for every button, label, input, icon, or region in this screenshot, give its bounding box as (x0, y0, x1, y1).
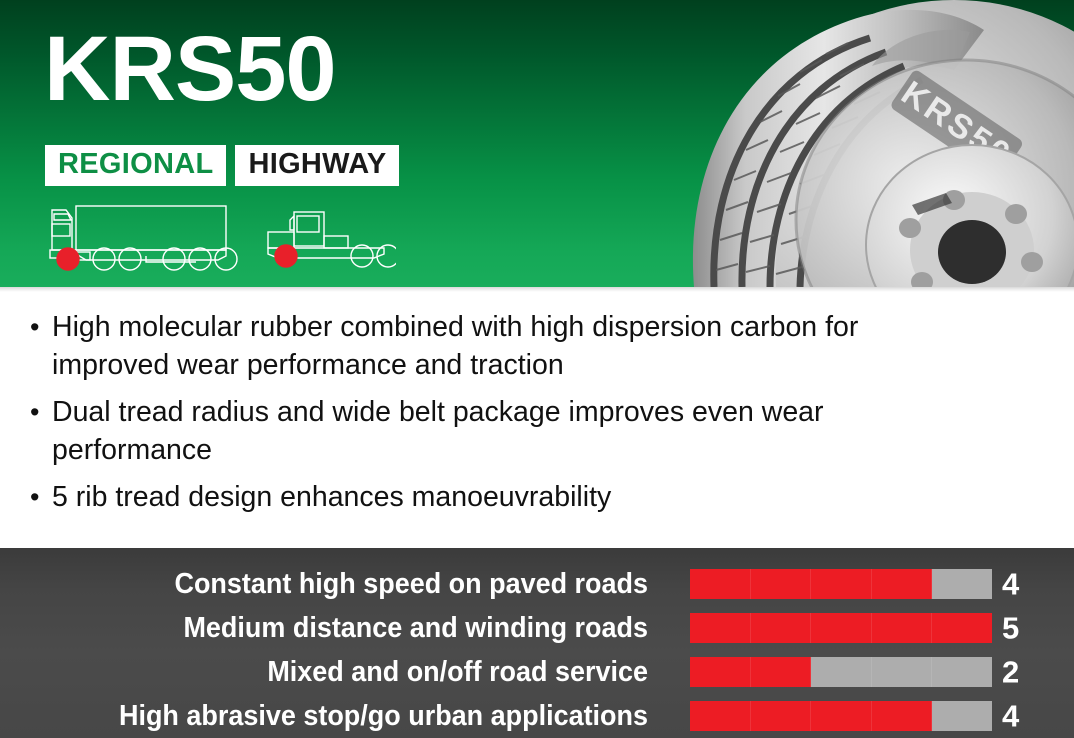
rating-bar (690, 657, 992, 687)
rating-segment (811, 613, 872, 643)
list-item: • High molecular rubber combined with hi… (30, 308, 1044, 384)
rating-segment (690, 701, 751, 731)
rating-label: Constant high speed on paved roads (45, 568, 648, 600)
category-badges: REGIONAL HIGHWAY (45, 145, 399, 186)
tire-product-card: KRS50 REGIONAL HIGHWAY (0, 0, 1074, 738)
rating-label: Mixed and on/off road service (45, 656, 648, 688)
rating-bar (690, 701, 992, 731)
rating-segment (751, 569, 812, 599)
rating-label: High abrasive stop/go urban applications (45, 700, 648, 732)
rating-row: Constant high speed on paved roads 4 (0, 562, 1074, 606)
bullet-icon: • (30, 393, 52, 431)
semi-truck-with-trailer-icon (50, 206, 237, 270)
list-item: • Dual tread radius and wide belt packag… (30, 393, 1044, 469)
truck-tire-photo: KRS50 (654, 0, 1074, 287)
rating-segment (751, 701, 812, 731)
rating-segment (932, 701, 992, 731)
rating-value: 4 (1002, 568, 1019, 601)
feature-text: High molecular rubber combined with high… (52, 308, 952, 384)
rating-segment (690, 569, 751, 599)
feature-text: 5 rib tread design enhances manoeuvrabil… (52, 478, 952, 516)
rating-row: High abrasive stop/go urban applications… (0, 694, 1074, 738)
rating-segment (932, 657, 992, 687)
rating-segment (932, 569, 992, 599)
rating-segment (872, 569, 933, 599)
page-title: KRS50 (44, 18, 336, 120)
rating-label: Medium distance and winding roads (45, 612, 648, 644)
rating-bar (690, 569, 992, 599)
rating-segment (690, 613, 751, 643)
rating-segment (872, 613, 933, 643)
rating-bar (690, 613, 992, 643)
tractor-unit-truck-icon (268, 212, 396, 267)
rating-segment (690, 657, 751, 687)
rating-segment (932, 613, 992, 643)
rating-row: Mixed and on/off road service 2 (0, 650, 1074, 694)
rating-segment (811, 701, 872, 731)
rating-segment (751, 657, 812, 687)
bullet-icon: • (30, 308, 52, 346)
rating-segment (811, 569, 872, 599)
badge-highway: HIGHWAY (235, 145, 399, 186)
list-item: • 5 rib tread design enhances manoeuvrab… (30, 478, 1044, 516)
vehicle-application-icons (46, 196, 396, 276)
header-banner: KRS50 REGIONAL HIGHWAY (0, 0, 1074, 287)
application-ratings-panel: Constant high speed on paved roads 4 Med… (0, 548, 1074, 738)
rating-segment (872, 657, 933, 687)
rating-value: 2 (1002, 656, 1019, 689)
rating-value: 5 (1002, 612, 1019, 645)
rating-value: 4 (1002, 700, 1019, 733)
feature-text: Dual tread radius and wide belt package … (52, 393, 952, 469)
rating-segment (811, 657, 872, 687)
bullet-icon: • (30, 478, 52, 516)
rating-segment (751, 613, 812, 643)
badge-regional: REGIONAL (45, 145, 226, 186)
rating-row: Medium distance and winding roads 5 (0, 606, 1074, 650)
rating-segment (872, 701, 933, 731)
features-list: • High molecular rubber combined with hi… (0, 292, 1074, 548)
